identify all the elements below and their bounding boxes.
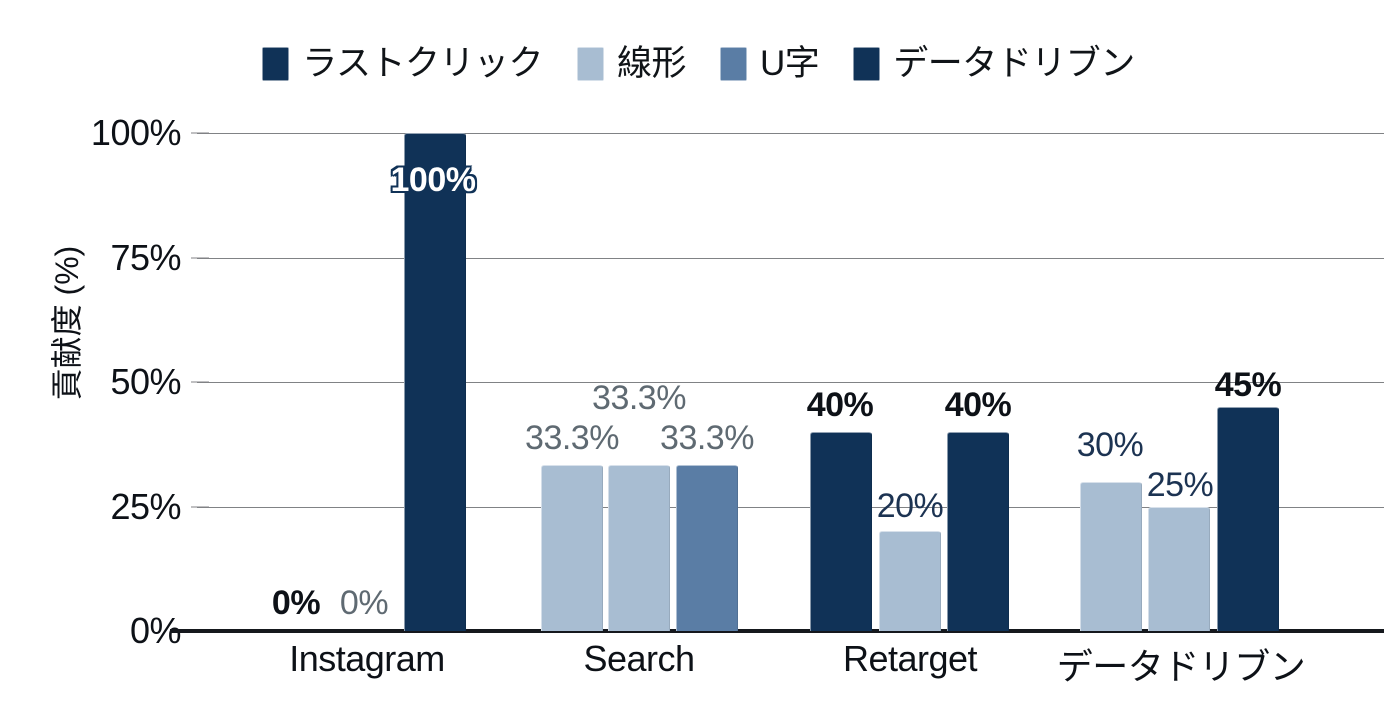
bar-chart: ラストクリック線形U字データドリブン 貢献度 (%) 0%25%50%75%10… xyxy=(0,0,1397,725)
plot-area xyxy=(197,133,1384,631)
legend-item-3[interactable]: データドリブン xyxy=(853,46,1135,81)
legend-swatch-icon xyxy=(262,47,289,81)
bar-g3-s2[interactable] xyxy=(1148,507,1210,632)
bar-value-label: 0% xyxy=(272,586,320,620)
bar-g1-s3[interactable] xyxy=(676,465,738,631)
legend-item-label: データドリブン xyxy=(893,46,1135,81)
legend-item-label: U字 xyxy=(760,46,819,81)
bar-value-label: 45% xyxy=(1215,368,1282,402)
bar-value-label: 40% xyxy=(945,388,1012,422)
x-axis-category-label: Instagram xyxy=(289,638,445,680)
y-axis-ticks: 0%25%50%75%100% xyxy=(16,133,181,631)
bar-value-label: 33.3% xyxy=(660,421,754,455)
bar-g2-s0[interactable] xyxy=(810,432,872,631)
legend-swatch-icon xyxy=(853,47,880,81)
bar-value-label: 30% xyxy=(1077,428,1144,462)
y-axis-tick-label: 75% xyxy=(21,237,181,279)
y-axis-tick-label: 25% xyxy=(21,486,181,528)
legend-item-2[interactable]: U字 xyxy=(720,46,819,81)
legend-item-1[interactable]: 線形 xyxy=(577,46,686,81)
gridline xyxy=(197,133,1384,134)
chart-legend: ラストクリック線形U字データドリブン xyxy=(0,46,1397,81)
legend-item-label: 線形 xyxy=(617,46,686,81)
bar-value-label: 33.3% xyxy=(592,381,686,415)
gridline xyxy=(197,258,1384,259)
y-axis-tick-label: 100% xyxy=(21,112,181,154)
x-axis-category-label: Retarget xyxy=(843,638,977,680)
bar-value-label: 25% xyxy=(1147,468,1214,502)
x-axis-category-label: データドリブン xyxy=(1057,638,1306,690)
bar-value-label: 100% xyxy=(391,163,476,197)
bar-g0-s3[interactable] xyxy=(404,133,466,631)
legend-item-0[interactable]: ラストクリック xyxy=(262,46,543,81)
bar-value-label: 33.3% xyxy=(525,421,619,455)
bar-value-label: 40% xyxy=(807,388,874,422)
legend-swatch-icon xyxy=(720,47,747,81)
x-axis-category-label: Search xyxy=(583,638,694,680)
bar-value-label: 20% xyxy=(877,489,944,523)
bar-g2-s3[interactable] xyxy=(947,432,1009,631)
bar-g1-s1[interactable] xyxy=(541,465,603,631)
gridline xyxy=(197,382,1384,383)
legend-swatch-icon xyxy=(577,47,604,81)
y-axis-tick-label: 50% xyxy=(21,361,181,403)
bar-g3-s3[interactable] xyxy=(1217,407,1279,631)
legend-item-label: ラストクリック xyxy=(302,46,543,81)
bar-g1-s2[interactable] xyxy=(608,465,670,631)
bar-value-label: 0% xyxy=(340,586,388,620)
x-axis-labels: InstagramSearchRetargetデータドリブン xyxy=(197,638,1384,688)
bar-g2-s1[interactable] xyxy=(879,531,941,631)
y-axis-tick-label: 0% xyxy=(21,610,181,652)
bar-g3-s1[interactable] xyxy=(1080,482,1142,631)
